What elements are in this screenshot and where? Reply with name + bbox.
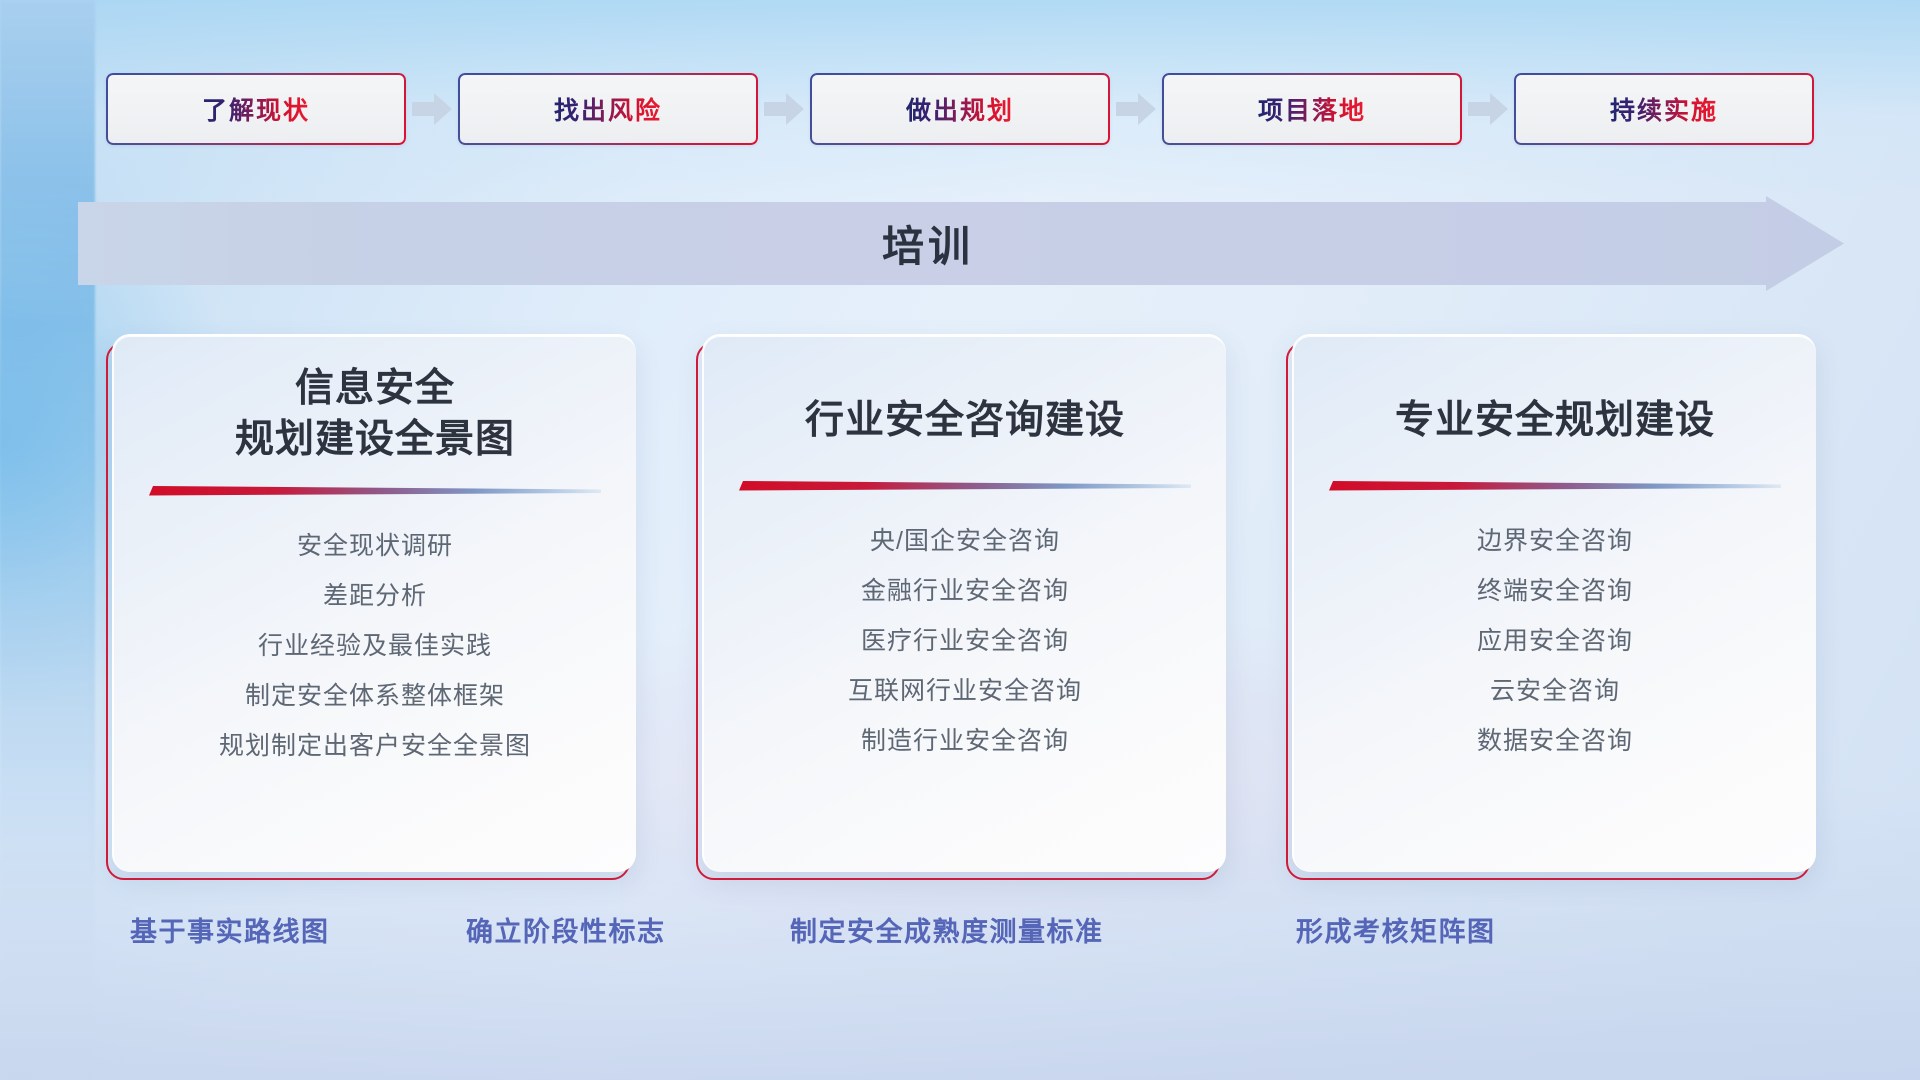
caption-maturity: 制定安全成熟度测量标准	[790, 910, 1104, 949]
list-item: 边界安全咨询	[1477, 516, 1633, 566]
list-item: 规划制定出客户安全全景图	[219, 721, 531, 771]
right-block-arrow-icon	[1110, 73, 1162, 145]
step-box-5[interactable]: 持续实施	[1514, 73, 1814, 145]
step-label: 做出规划	[906, 91, 1014, 127]
list-item: 应用安全咨询	[1477, 616, 1633, 666]
list-item: 医疗行业安全咨询	[861, 616, 1069, 666]
card-title: 专业安全规划建设	[1395, 396, 1715, 447]
list-item: 差距分析	[323, 571, 427, 621]
list-item: 制造行业安全咨询	[861, 716, 1069, 766]
step-box-1[interactable]: 了解现状	[106, 73, 406, 145]
list-item: 互联网行业安全咨询	[848, 666, 1082, 716]
card-item-list: 央/国企安全咨询 金融行业安全咨询 医疗行业安全咨询 互联网行业安全咨询 制造行…	[704, 516, 1226, 766]
list-item: 央/国企安全咨询	[870, 516, 1060, 566]
card-title: 信息安全 规划建设全景图	[235, 364, 515, 465]
card-item-list: 安全现状调研 差距分析 行业经验及最佳实践 制定安全体系整体框架 规划制定出客户…	[114, 521, 636, 771]
right-block-arrow-icon	[758, 73, 810, 145]
process-step-row: 了解现状 找出风险 做出规划 项目落地 持续实施	[0, 73, 1920, 145]
caption-row: 基于事实路线图 确立阶段性标志 制定安全成熟度测量标准 形成考核矩阵图	[0, 910, 1920, 970]
card-surface: 行业安全咨询建设 央/国企安全咨询 金融行业安全咨询 医	[702, 334, 1226, 872]
step-label: 项目落地	[1258, 91, 1366, 127]
right-block-arrow-icon	[406, 73, 458, 145]
card-information-security-blueprint[interactable]: 信息安全 规划建设全景图 安全现状调研 差距分析 行业经	[106, 334, 634, 880]
list-item: 数据安全咨询	[1477, 716, 1633, 766]
list-item: 安全现状调研	[297, 521, 453, 571]
card-industry-security-consulting[interactable]: 行业安全咨询建设 央/国企安全咨询 金融行业安全咨询 医	[696, 334, 1224, 880]
step-label: 持续实施	[1610, 91, 1718, 127]
list-item: 终端安全咨询	[1477, 566, 1633, 616]
list-item: 行业经验及最佳实践	[258, 621, 492, 671]
caption-roadmap: 基于事实路线图	[130, 910, 330, 949]
card-surface: 信息安全 规划建设全景图 安全现状调研 差距分析 行业经	[112, 334, 636, 872]
gradient-underline-icon	[1329, 478, 1781, 494]
list-item: 金融行业安全咨询	[861, 566, 1069, 616]
training-banner: 培训	[78, 196, 1844, 291]
step-box-4[interactable]: 项目落地	[1162, 73, 1462, 145]
card-item-list: 边界安全咨询 终端安全咨询 应用安全咨询 云安全咨询 数据安全咨询	[1294, 516, 1816, 766]
card-professional-security-planning[interactable]: 专业安全规划建设 边界安全咨询 终端安全咨询 应用安全咨	[1286, 334, 1814, 880]
right-block-arrow-icon	[1462, 73, 1514, 145]
step-box-3[interactable]: 做出规划	[810, 73, 1110, 145]
step-box-2[interactable]: 找出风险	[458, 73, 758, 145]
caption-milestones: 确立阶段性标志	[466, 910, 666, 949]
caption-matrix: 形成考核矩阵图	[1296, 910, 1496, 949]
gradient-underline-icon	[149, 483, 601, 499]
step-label: 找出风险	[554, 91, 662, 127]
card-surface: 专业安全规划建设 边界安全咨询 终端安全咨询 应用安全咨	[1292, 334, 1816, 872]
step-label: 了解现状	[202, 91, 310, 127]
card-row: 信息安全 规划建设全景图 安全现状调研 差距分析 行业经	[0, 334, 1920, 880]
card-title: 行业安全咨询建设	[805, 396, 1125, 447]
list-item: 云安全咨询	[1490, 666, 1620, 716]
gradient-underline-icon	[739, 478, 1191, 494]
list-item: 制定安全体系整体框架	[245, 671, 505, 721]
banner-title: 培训	[78, 196, 1778, 291]
